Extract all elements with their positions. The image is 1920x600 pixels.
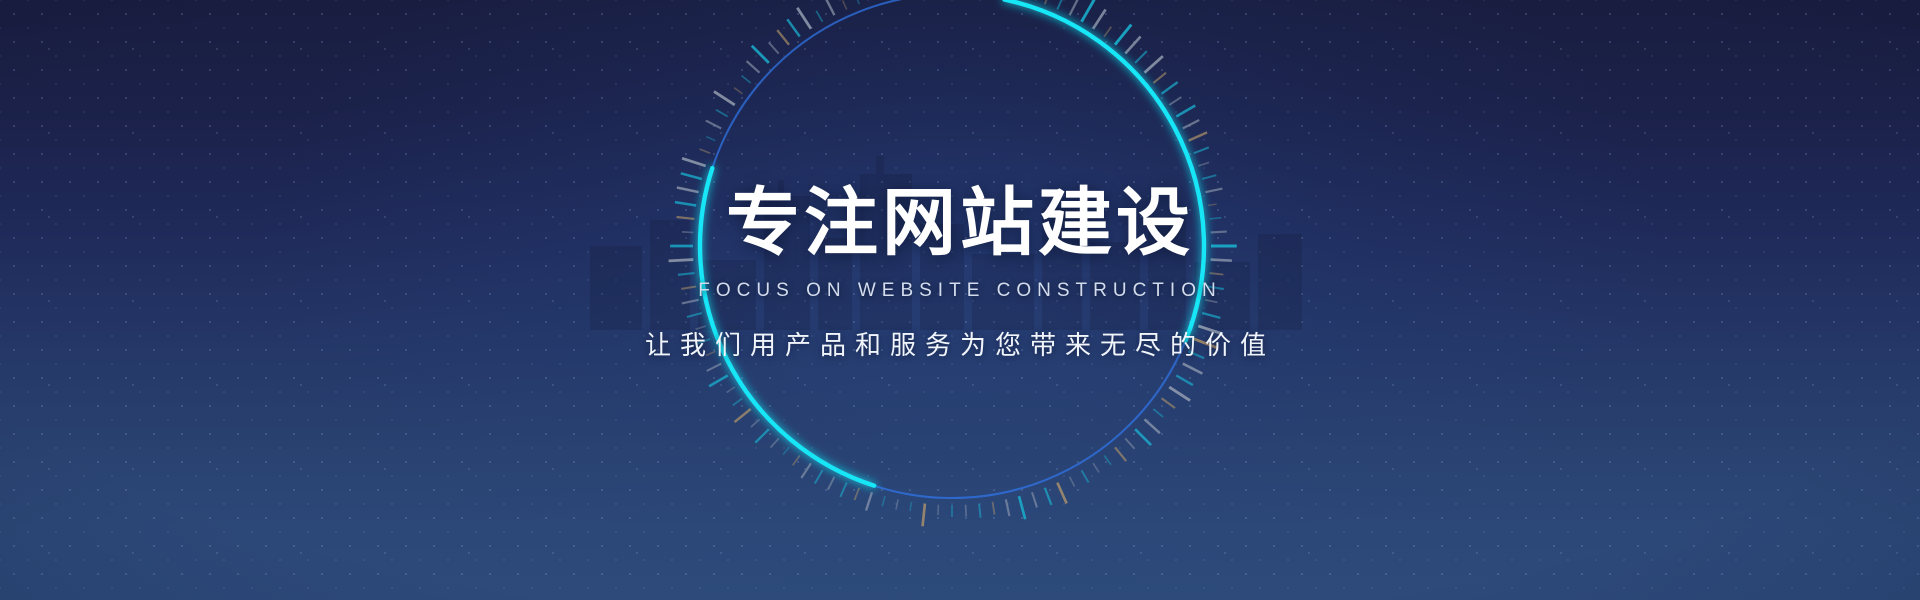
ring-tick <box>1176 106 1195 117</box>
ring-tick <box>1093 10 1106 29</box>
ring-tick <box>1194 339 1217 348</box>
ring-tick <box>1205 189 1222 193</box>
ring-tick <box>1125 438 1134 448</box>
ring-tick <box>1208 287 1224 290</box>
page-title: 专注网站建设 <box>0 186 1920 261</box>
ring-tick <box>1211 232 1227 233</box>
ring-tick <box>801 463 811 478</box>
ring-tick <box>696 326 706 329</box>
ring-tick <box>716 110 728 117</box>
ring-tick <box>1183 120 1199 128</box>
ring-tick <box>993 502 995 515</box>
ring-tick <box>675 202 696 205</box>
ring-tick <box>840 483 846 497</box>
ring-tick <box>1125 37 1140 54</box>
ring-tick <box>1006 499 1010 516</box>
ring-tick <box>1115 25 1131 45</box>
ring-tick <box>815 470 823 483</box>
ring-tick <box>828 477 835 490</box>
ring-tick <box>1169 387 1190 401</box>
city-skyline-silhouette-icon <box>580 150 1340 330</box>
ring-tick <box>1115 447 1126 461</box>
ring-tick <box>677 188 699 193</box>
banner-subtitle: 让我们用产品和服务为您带来无尽的价值 <box>0 325 1920 362</box>
ring-tick <box>1153 73 1166 83</box>
ring-tick <box>697 339 710 344</box>
ring-tick <box>707 364 722 371</box>
ring-tick <box>777 30 789 45</box>
ring-tick <box>1183 364 1203 374</box>
ring-tick <box>1189 132 1207 140</box>
ring-tick <box>843 0 847 9</box>
ring-tick <box>1189 351 1205 358</box>
ring-tick <box>979 504 980 518</box>
ring-tick <box>825 0 834 15</box>
ring-tick <box>1202 313 1220 318</box>
ring-tick-marks <box>669 0 1237 526</box>
ring-tick <box>1144 419 1159 433</box>
ring-tick <box>1202 175 1216 179</box>
ring-tick <box>1205 300 1217 303</box>
ring-tick <box>787 19 799 36</box>
ring-tick <box>747 61 760 73</box>
ring-tick <box>1070 477 1075 487</box>
ring-tick <box>1198 326 1222 334</box>
ring-tick <box>1045 0 1049 4</box>
ring-tick <box>856 0 859 4</box>
ring-tick <box>1135 429 1151 445</box>
ring-tick <box>678 273 694 275</box>
ring-tick <box>714 91 735 105</box>
center-glow <box>260 0 1660 600</box>
ring-tick <box>682 232 693 233</box>
ring-tick <box>1211 260 1232 261</box>
ring-tick <box>771 438 779 447</box>
ring-svg <box>622 0 1282 576</box>
ring-tick <box>1153 409 1163 417</box>
ring-tick <box>1210 273 1224 274</box>
ring-tick <box>706 137 715 141</box>
ring-tick <box>783 447 789 454</box>
cyan-arc-lower-left <box>700 168 874 486</box>
ring-tick <box>769 42 779 53</box>
ring-tick <box>1104 456 1111 465</box>
ring-tick <box>923 504 925 527</box>
ring-tick <box>1176 376 1193 386</box>
ring-tick <box>1057 483 1066 504</box>
banner-text-block: 专注网站建设 FOCUS ON WEBSITE CONSTRUCTION 让我们… <box>0 186 1920 362</box>
ring-tick <box>938 505 939 515</box>
ring-tick <box>1162 82 1178 94</box>
ring-tick <box>682 300 699 304</box>
ring-tick <box>755 429 769 443</box>
ring-tick <box>1082 0 1095 22</box>
ring-tick <box>1082 470 1089 482</box>
ring-tick <box>1144 56 1162 73</box>
ring-tick <box>966 505 967 517</box>
ring-tick <box>854 488 859 500</box>
ring-tick <box>1198 162 1209 165</box>
dotted-accent-grid-pattern <box>0 0 1920 600</box>
ring-tick <box>1019 496 1025 519</box>
ring-tick <box>1162 398 1176 408</box>
ring-tick <box>1169 97 1181 105</box>
ring-tick <box>896 499 898 509</box>
ring-tick <box>882 496 885 506</box>
ring-tick <box>1194 147 1209 153</box>
ring-tick <box>677 217 695 219</box>
ring-tick <box>687 313 702 317</box>
ring-tick <box>681 287 696 289</box>
ring-tick <box>733 398 743 405</box>
cyan-arc-upper-right <box>1004 0 1204 340</box>
ring-tick <box>709 376 728 387</box>
ring-tick <box>734 88 742 94</box>
ring-tick <box>1057 0 1063 9</box>
ring-tick <box>910 502 911 511</box>
edge-vignette <box>0 0 1920 600</box>
hero-banner: 专注网站建设 FOCUS ON WEBSITE CONSTRUCTION 让我们… <box>0 0 1920 600</box>
ring-tick <box>1135 51 1147 63</box>
ring-tick <box>735 409 751 422</box>
ring-tick <box>742 76 751 83</box>
ring-tick <box>706 351 716 355</box>
ring-tick <box>727 387 735 392</box>
ring-tick <box>1093 463 1099 472</box>
ring-tick <box>1208 204 1217 205</box>
ring-tick <box>1045 488 1052 505</box>
ring-tick <box>1032 492 1037 507</box>
ring-tick <box>699 149 710 153</box>
ring-tick <box>1104 27 1111 37</box>
ring-tick <box>797 8 811 29</box>
ring-tick <box>816 11 822 22</box>
ring-tick <box>1070 0 1078 15</box>
english-tagline: FOCUS ON WEBSITE CONSTRUCTION <box>0 280 1920 302</box>
ring-tick <box>681 173 702 179</box>
dotted-cross-grid-pattern <box>0 0 1920 600</box>
ring-tick <box>706 121 721 129</box>
ring-tick <box>752 46 769 63</box>
ring-tick <box>1210 218 1222 219</box>
ring-tick <box>793 456 800 466</box>
ring-tick <box>682 158 706 166</box>
ring-tick <box>866 492 872 510</box>
ring-tick <box>669 260 694 261</box>
ring-tick <box>751 419 760 427</box>
